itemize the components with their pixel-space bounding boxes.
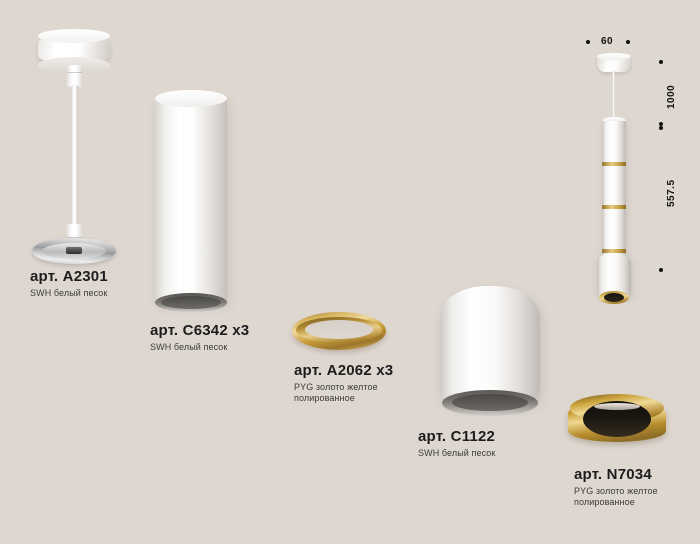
product-image-n7034 xyxy=(568,392,666,454)
reflector-inner-highlight xyxy=(594,403,640,410)
article-code-a2301: арт. A2301 xyxy=(30,268,108,285)
finish-name-n7034: PYG золото желтое полированное xyxy=(574,486,658,508)
dimension-dot-fixture-bottom xyxy=(659,268,663,272)
gold-ring-aperture xyxy=(305,320,373,339)
article-code-c6342: арт. C6342 x3 xyxy=(150,322,249,339)
product-image-c1122 xyxy=(440,280,540,420)
finish-name-c1122: SWH белый песок xyxy=(418,448,495,459)
product-image-a2062 xyxy=(292,312,386,354)
assembled-pendant-luminaire xyxy=(592,55,636,275)
cylinder-bottom-mouth-inner xyxy=(161,296,221,309)
label-c6342: арт. C6342 x3 SWH белый песок xyxy=(150,322,249,353)
finish-name-a2301: SWH белый песок xyxy=(30,288,108,299)
label-c1122: арт. C1122 SWH белый песок xyxy=(418,428,495,459)
suspension-rod xyxy=(71,85,78,237)
dimension-dot-diameter-right xyxy=(626,40,630,44)
dimension-dot-diameter-left xyxy=(586,40,590,44)
cylinder-body xyxy=(155,98,227,303)
label-a2301: арт. A2301 SWH белый песок xyxy=(30,268,108,299)
article-code-a2062: арт. A2062 x3 xyxy=(294,362,393,379)
dimension-dot-fixture-top xyxy=(659,122,663,126)
label-n7034: арт. N7034 PYG золото желтое полированно… xyxy=(574,466,658,508)
dimension-fixture-length: 557.5 xyxy=(666,179,677,207)
product-image-c6342 xyxy=(155,90,227,314)
barrel-shade-rim-inner xyxy=(452,394,528,411)
upper-joint xyxy=(66,65,83,87)
product-diagram-canvas: арт. A2301 SWH белый песок арт. C6342 x3… xyxy=(0,0,700,544)
assembly-ceiling-cup-top xyxy=(597,53,631,60)
product-image-a2301 xyxy=(30,32,130,252)
base-connector-chip xyxy=(66,247,82,254)
dimension-diameter: 60 xyxy=(601,36,613,47)
assembly-gold-band-1 xyxy=(602,162,626,166)
cylinder-top-cap xyxy=(155,90,227,107)
label-a2062: арт. A2062 x3 PYG золото желтое полирова… xyxy=(294,362,393,404)
dimension-dot-total-bottom xyxy=(659,126,663,130)
finish-name-c6342: SWH белый песок xyxy=(150,342,249,353)
article-code-n7034: арт. N7034 xyxy=(574,466,658,483)
dimension-total-length: 1000 xyxy=(666,85,677,109)
finish-name-a2062: PYG золото желтое полированное xyxy=(294,382,393,404)
assembly-tube-body xyxy=(602,121,626,256)
assembly-gold-band-2 xyxy=(602,205,626,209)
assembly-reflector-aperture xyxy=(604,293,624,302)
barrel-shade-body xyxy=(440,286,540,404)
dimension-dot-total-top xyxy=(659,60,663,64)
article-code-c1122: арт. C1122 xyxy=(418,428,495,445)
ceiling-cup-top xyxy=(38,29,110,43)
